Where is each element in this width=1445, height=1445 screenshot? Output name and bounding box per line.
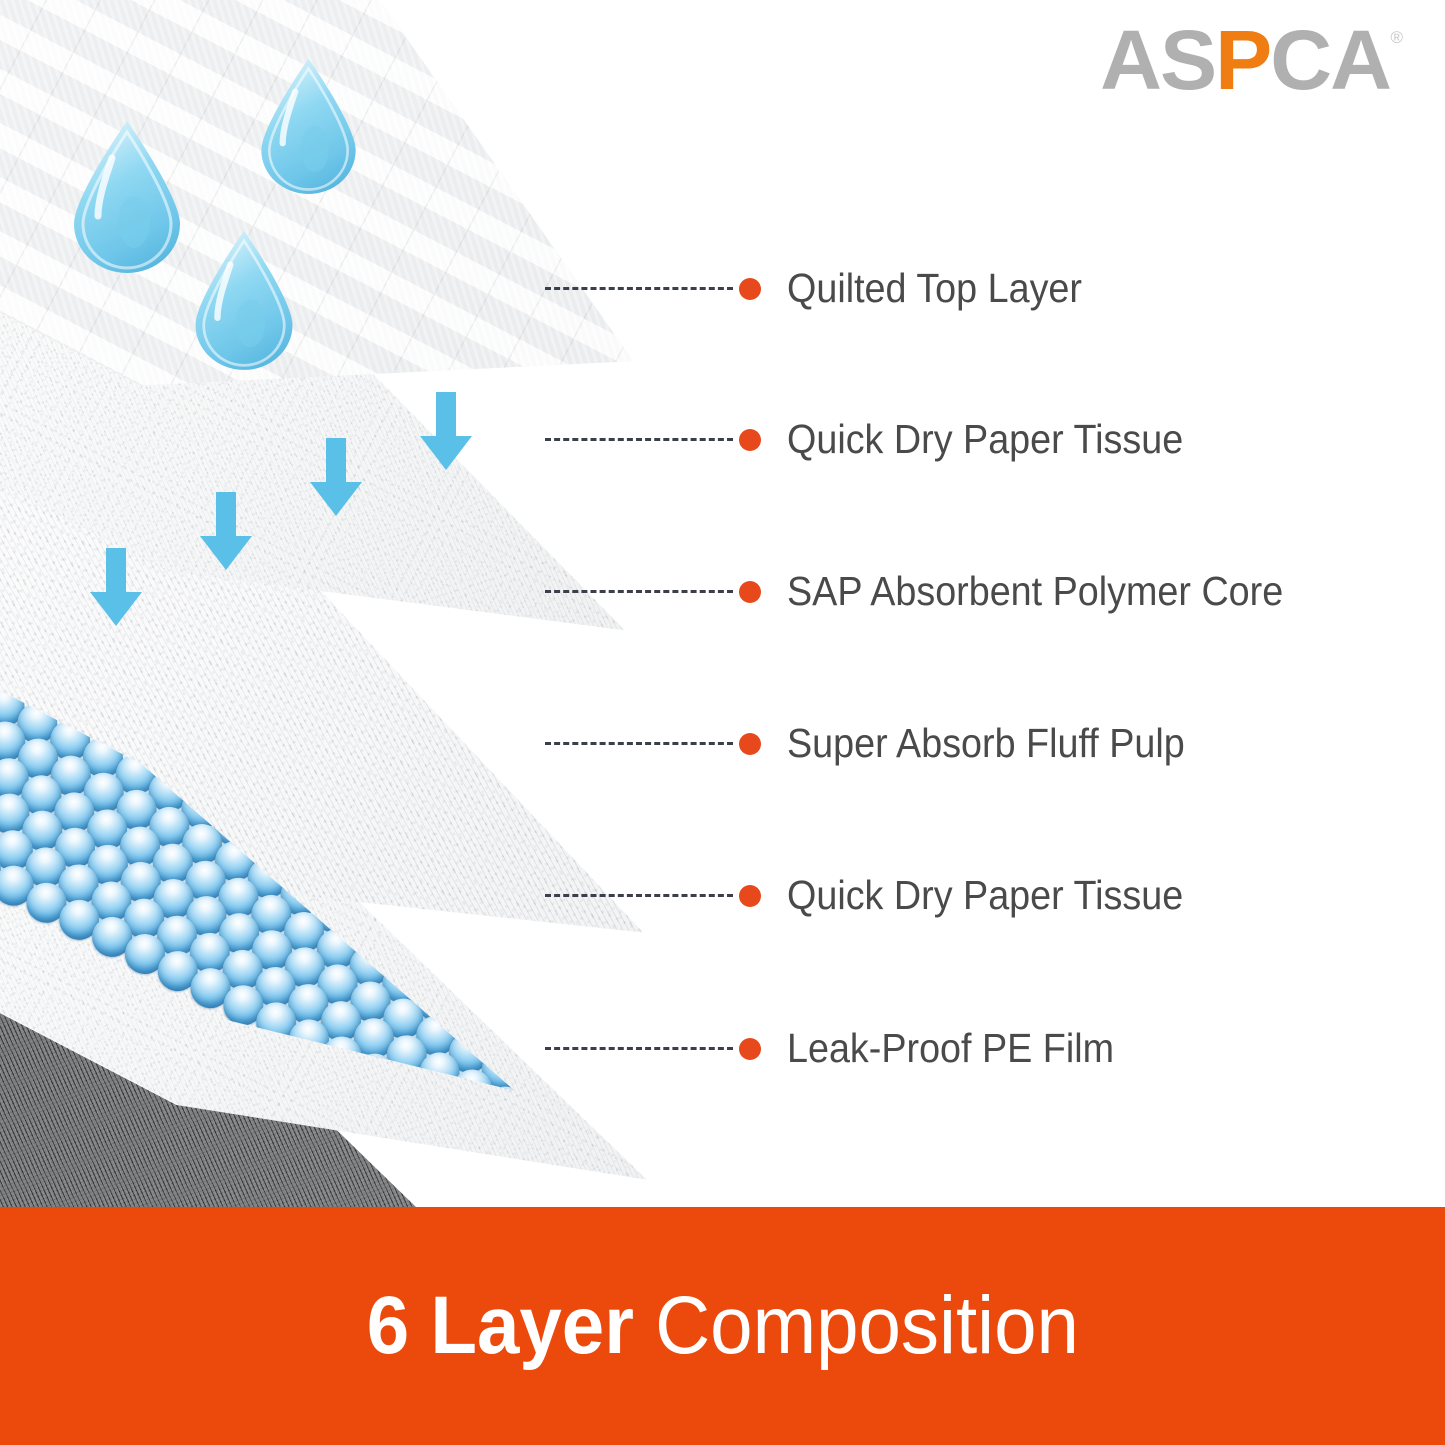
- leader-line: [545, 438, 733, 441]
- sap-bead: [437, 918, 491, 972]
- banner-title-rest: Composition: [634, 1280, 1079, 1371]
- callout-label: SAP Absorbent Polymer Core: [787, 571, 1283, 612]
- banner-title: 6 Layer Composition: [366, 1285, 1078, 1367]
- callout-bullet-dot: [739, 429, 761, 451]
- callout-label: Quick Dry Paper Tissue: [787, 875, 1183, 916]
- callout-quilted-top-layer: Quilted Top Layer: [545, 268, 1108, 309]
- absorption-arrow-down-icon: [86, 548, 146, 631]
- infographic-canvas: ASPCA ® Quilted Top Layer Quick Dry Pape…: [0, 0, 1445, 1445]
- callout-sap-absorbent-polymer-core: SAP Absorbent Polymer Core: [545, 571, 1326, 612]
- callout-label: Quilted Top Layer: [787, 268, 1082, 309]
- water-droplet-icon: [68, 118, 186, 273]
- leader-line: [545, 287, 733, 290]
- bottom-title-banner: 6 Layer Composition: [0, 1207, 1445, 1445]
- registered-trademark-icon: ®: [1390, 28, 1403, 48]
- sap-bead: [470, 935, 524, 989]
- sap-bead: [471, 971, 525, 1025]
- water-droplet-icon: [190, 228, 298, 370]
- leader-line: [545, 742, 733, 745]
- logo-text-as: AS: [1101, 13, 1216, 107]
- absorption-arrow-down-icon: [196, 492, 256, 575]
- water-droplet-icon: [256, 56, 361, 194]
- sap-bead: [535, 970, 568, 1024]
- callout-super-absorb-fluff-pulp: Super Absorb Fluff Pulp: [545, 723, 1219, 764]
- callout-bullet-dot: [739, 1038, 761, 1060]
- leader-line: [545, 1047, 733, 1050]
- absorption-arrow-down-icon: [416, 392, 476, 475]
- banner-title-strong: 6 Layer: [366, 1280, 633, 1371]
- callout-quick-dry-paper-tissue-bottom: Quick Dry Paper Tissue: [545, 875, 1218, 916]
- logo-text-ca: CA: [1271, 13, 1391, 107]
- leader-line: [545, 590, 733, 593]
- leader-line: [545, 894, 733, 897]
- logo-text-p: P: [1216, 13, 1271, 107]
- aspca-logo: ASPCA ®: [1103, 18, 1403, 102]
- sap-bead: [503, 953, 557, 1007]
- callout-label: Quick Dry Paper Tissue: [787, 419, 1183, 460]
- aspca-wordmark: ASPCA: [1101, 18, 1391, 102]
- callout-label: Super Absorb Fluff Pulp: [787, 723, 1185, 764]
- callout-bullet-dot: [739, 733, 761, 755]
- callout-bullet-dot: [739, 581, 761, 603]
- absorption-arrow-down-icon: [306, 438, 366, 521]
- callout-bullet-dot: [739, 278, 761, 300]
- callout-label: Leak-Proof PE Film: [787, 1028, 1114, 1069]
- callout-leak-proof-pe-film: Leak-Proof PE Film: [545, 1028, 1142, 1069]
- callout-bullet-dot: [739, 885, 761, 907]
- callout-quick-dry-paper-tissue-top: Quick Dry Paper Tissue: [545, 419, 1218, 460]
